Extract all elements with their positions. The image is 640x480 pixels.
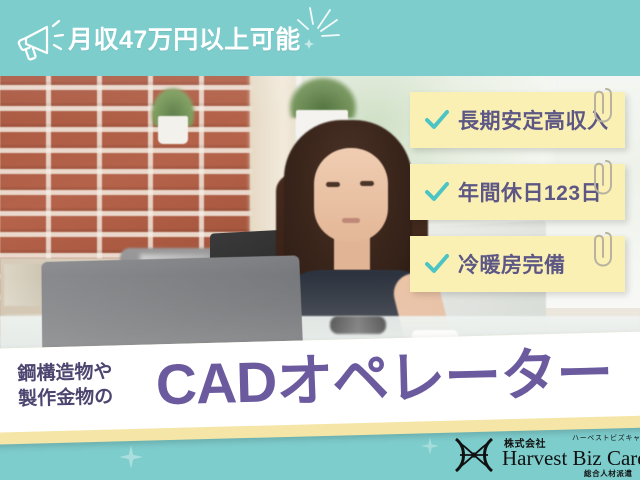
- headline-band: 鋼構造物や 製作金物の CADオペレーター: [0, 331, 640, 445]
- feature-box-3[interactable]: 冷暖房完備: [410, 236, 625, 292]
- company-logo[interactable]: 株式会社 ハーベストビズキャリア Harvest Biz Career 総合人材…: [452, 432, 634, 478]
- sparkle-icon: [420, 436, 440, 456]
- logo-center-dot: [471, 452, 476, 457]
- check-icon: [424, 180, 450, 204]
- paperclip-icon: [591, 85, 613, 125]
- sparkle-icon: [118, 444, 144, 470]
- feature-label: 冷暖房完備: [458, 249, 566, 279]
- star-icon: [304, 39, 314, 49]
- headline-main: CADオペレーター: [155, 340, 613, 418]
- feature-label: 年間休日123日: [458, 177, 602, 207]
- headline-subtext-line2: 製作金物の: [18, 384, 114, 411]
- paperclip-icon: [591, 229, 613, 269]
- feature-box-2[interactable]: 年間休日123日: [410, 164, 625, 220]
- feature-label: 長期安定高収入: [458, 105, 609, 135]
- feature-box-1[interactable]: 長期安定高収入: [410, 92, 625, 148]
- headline-subtext-line1: 鋼構造物や: [17, 360, 113, 387]
- check-icon: [424, 252, 450, 276]
- header-text: 月収47万円以上可能: [68, 20, 301, 56]
- harvest-logo-mark-icon: [452, 437, 496, 473]
- megaphone-icon: [16, 18, 68, 64]
- logo-kana: ハーベストビズキャリア: [572, 433, 640, 443]
- paperclip-icon: [591, 157, 613, 197]
- logo-tagline: 総合人材派遣: [584, 468, 633, 479]
- ad-banner: 月収47万円以上可能 長期安定高収入 年間休日123日 冷暖房完備: [0, 0, 640, 480]
- headline-subtext: 鋼構造物や 製作金物の: [17, 360, 113, 412]
- top-banner: 月収47万円以上可能: [0, 0, 640, 76]
- check-icon: [424, 108, 450, 132]
- sparkle-icon: [296, 4, 342, 50]
